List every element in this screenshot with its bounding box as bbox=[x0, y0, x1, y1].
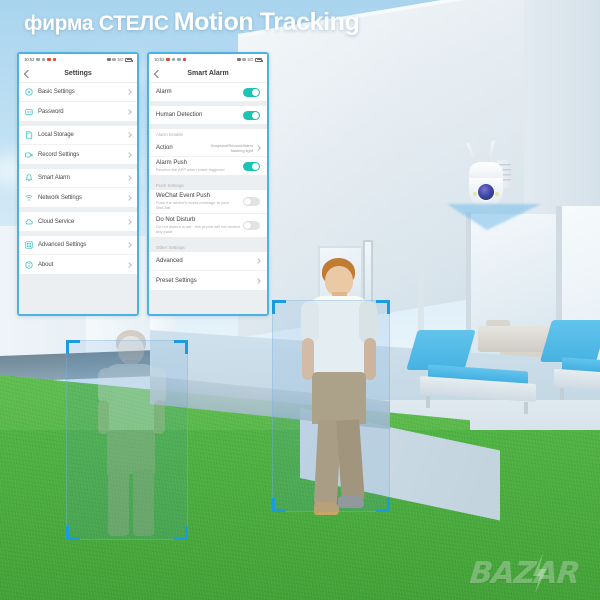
status-bar: 10:52 5G bbox=[19, 54, 137, 65]
status-icon-red bbox=[183, 58, 187, 62]
chevron-right-icon bbox=[126, 89, 132, 95]
chevron-right-icon bbox=[126, 109, 132, 115]
settings-group: Basic Settings Password bbox=[19, 83, 137, 121]
row-label: Action bbox=[156, 145, 207, 151]
row-label: Local Storage bbox=[38, 132, 127, 138]
sidebar-item-advanced-settings[interactable]: Advanced Settings bbox=[19, 236, 137, 255]
tracking-corner-top-right bbox=[174, 340, 188, 354]
status-bar: 10:52 5G bbox=[149, 54, 267, 65]
toggle-alarm[interactable] bbox=[243, 88, 260, 97]
screen-title: Settings bbox=[19, 70, 137, 77]
network-icon: 5G bbox=[117, 57, 123, 62]
settings-phone: 10:52 5G Settings bbox=[17, 52, 139, 316]
tracking-box-active bbox=[272, 300, 390, 512]
title-feature-en: Motion Tracking bbox=[174, 8, 360, 37]
smart-alarm-phone: 10:52 5G Smart Alarm bbox=[147, 52, 269, 316]
chevron-right-icon bbox=[126, 152, 132, 158]
sidebar-item-local-storage[interactable]: Local Storage bbox=[19, 126, 137, 145]
row-label: Alarm bbox=[156, 89, 243, 95]
network-icon: 5G bbox=[247, 57, 253, 62]
video-icon bbox=[25, 151, 33, 159]
chevron-right-icon bbox=[255, 278, 261, 284]
setting-row-action[interactable]: Action Snapshot/Record/Alarm flashing li… bbox=[149, 139, 267, 157]
chevron-right-icon bbox=[126, 195, 132, 201]
tracking-box-ghost bbox=[66, 340, 188, 540]
row-label: Basic Settings bbox=[38, 89, 127, 95]
setting-row-wechat-event-push[interactable]: WeChat Event Push Push the device's even… bbox=[149, 190, 267, 214]
gear-icon bbox=[25, 88, 33, 96]
section-header-push-settings: Push Settings bbox=[149, 180, 267, 190]
status-icon-dot bbox=[172, 58, 176, 62]
phone-mockups: 10:52 5G Settings bbox=[17, 52, 269, 316]
sidebar-item-network-settings[interactable]: Network Settings bbox=[19, 188, 137, 207]
nav-bar: Smart Alarm bbox=[149, 65, 267, 83]
chevron-right-icon bbox=[126, 262, 132, 268]
settings-group: Advanced Settings About bbox=[19, 236, 137, 274]
title-brand-ru: фирма СТЕЛС bbox=[24, 12, 169, 36]
wifi-icon bbox=[25, 194, 33, 202]
tracking-corner-top-right bbox=[376, 300, 390, 314]
row-description: Do not disturb is set , this phone will … bbox=[156, 224, 243, 234]
wifi-icon bbox=[112, 58, 116, 62]
status-icon-red bbox=[47, 58, 51, 62]
tracking-corner-bottom-left bbox=[66, 526, 80, 540]
status-icon-dot bbox=[42, 58, 46, 62]
tracking-corner-top-left bbox=[272, 300, 286, 314]
toggle-do-not-disturb[interactable] bbox=[243, 221, 260, 230]
cloud-icon bbox=[25, 218, 33, 226]
row-label: Advanced bbox=[156, 258, 256, 264]
setting-row-advanced[interactable]: Advanced bbox=[149, 252, 267, 271]
bazar-watermark: BAZAR bbox=[468, 556, 581, 591]
chevron-right-icon bbox=[126, 175, 132, 181]
chevron-right-icon bbox=[126, 132, 132, 138]
setting-row-preset-settings[interactable]: Preset Settings bbox=[149, 271, 267, 290]
wifi-icon bbox=[242, 58, 246, 62]
camera-lens bbox=[478, 184, 494, 200]
key-icon bbox=[25, 108, 33, 116]
sidebar-item-cloud-service[interactable]: Cloud Service bbox=[19, 212, 137, 231]
alarm-enable-section: Action Snapshot/Record/Alarm flashing li… bbox=[149, 139, 267, 175]
tracking-corner-bottom-left bbox=[272, 498, 286, 512]
row-label: Advanced Settings bbox=[38, 242, 127, 248]
tracking-corner-bottom-right bbox=[174, 526, 188, 540]
toggle-human-detection[interactable] bbox=[243, 111, 260, 120]
screenshot-root: фирма СТЕЛС Motion Tracking 10:52 bbox=[0, 0, 600, 600]
sidebar-item-about[interactable]: About bbox=[19, 255, 137, 274]
battery-icon bbox=[255, 58, 262, 62]
signal-icon bbox=[237, 58, 241, 62]
chevron-right-icon bbox=[255, 145, 261, 151]
tracking-corner-top-left bbox=[66, 340, 80, 354]
screen-title: Smart Alarm bbox=[149, 70, 267, 77]
setting-row-alarm-push[interactable]: Alarm Push Receive the APP when event tr… bbox=[149, 157, 267, 175]
camera-ir-led bbox=[473, 192, 477, 196]
nav-bar: Settings bbox=[19, 65, 137, 83]
alarm-section: Alarm bbox=[149, 83, 267, 101]
settings-group: Local Storage Record Settings bbox=[19, 126, 137, 164]
status-time: 10:52 bbox=[154, 57, 164, 62]
row-label: Do Not Disturb bbox=[156, 217, 243, 223]
row-label: Preset Settings bbox=[156, 278, 256, 284]
chevron-right-icon bbox=[255, 258, 261, 264]
camera-view-beam bbox=[447, 204, 541, 230]
sidebar-item-record-settings[interactable]: Record Settings bbox=[19, 145, 137, 164]
signal-icon bbox=[107, 58, 111, 62]
sidebar-item-smart-alarm[interactable]: Smart Alarm bbox=[19, 169, 137, 188]
camera-ir-led bbox=[495, 192, 499, 196]
row-label: Network Settings bbox=[38, 195, 127, 201]
row-label: WeChat Event Push bbox=[156, 193, 243, 199]
sliders-icon bbox=[25, 241, 33, 249]
push-settings-section: WeChat Event Push Push the device's even… bbox=[149, 190, 267, 237]
row-label: Record Settings bbox=[38, 152, 127, 158]
settings-group: Smart Alarm Network Settings bbox=[19, 169, 137, 207]
battery-icon bbox=[125, 58, 132, 62]
status-icon-dot bbox=[177, 58, 181, 62]
page-title: фирма СТЕЛС Motion Tracking bbox=[24, 8, 359, 37]
setting-row-alarm[interactable]: Alarm bbox=[149, 83, 267, 101]
section-header-alarm-enable: Alarm Enable bbox=[149, 129, 267, 139]
smart-alarm-list[interactable]: Alarm Human Detection Ala bbox=[149, 83, 267, 314]
settings-group: Cloud Service bbox=[19, 212, 137, 231]
chevron-right-icon bbox=[126, 242, 132, 248]
info-icon bbox=[25, 261, 33, 269]
tracking-corner-bottom-right bbox=[376, 498, 390, 512]
row-label: Human Detection bbox=[156, 112, 243, 118]
row-label: Smart Alarm bbox=[38, 175, 127, 181]
section-header-other-settings: Other Settings bbox=[149, 242, 267, 252]
human-detection-section: Human Detection bbox=[149, 106, 267, 124]
status-icon-red bbox=[166, 58, 170, 62]
toggle-wechat-event-push[interactable] bbox=[243, 197, 260, 206]
row-value: Snapshot/Record/Alarm flashing light bbox=[207, 143, 253, 153]
other-settings-section: Advanced Preset Settings bbox=[149, 252, 267, 290]
row-label: Password bbox=[38, 109, 127, 115]
row-label: Alarm Push bbox=[156, 160, 243, 166]
toggle-alarm-push[interactable] bbox=[243, 162, 260, 171]
ptz-security-camera bbox=[455, 148, 525, 228]
chevron-right-icon bbox=[126, 219, 132, 225]
status-icon-dot bbox=[36, 58, 40, 62]
row-description: Receive the APP when event triggered bbox=[156, 167, 243, 172]
row-description: Push the device's event message to your … bbox=[156, 200, 243, 210]
row-label: Cloud Service bbox=[38, 219, 127, 225]
bell-icon bbox=[25, 174, 33, 182]
setting-row-do-not-disturb[interactable]: Do Not Disturb Do not disturb is set , t… bbox=[149, 214, 267, 237]
setting-row-human-detection[interactable]: Human Detection bbox=[149, 106, 267, 124]
sdcard-icon bbox=[25, 131, 33, 139]
settings-list[interactable]: Basic Settings Password bbox=[19, 83, 137, 314]
sidebar-item-password[interactable]: Password bbox=[19, 102, 137, 121]
status-icon-red bbox=[53, 58, 57, 62]
row-label: About bbox=[38, 262, 127, 268]
sidebar-item-basic-settings[interactable]: Basic Settings bbox=[19, 83, 137, 102]
status-time: 10:52 bbox=[24, 57, 34, 62]
